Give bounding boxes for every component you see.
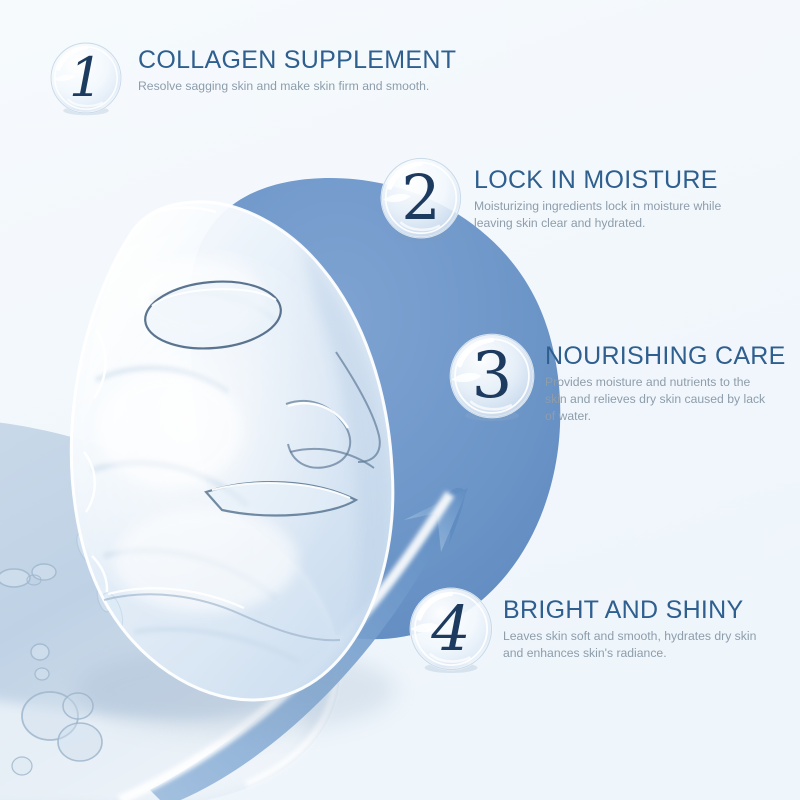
feature-desc-4-line-1: Leaves skin soft and smooth, hydrates dr…: [503, 628, 756, 645]
feature-desc-2-line-2: leaving skin clear and hydrated.: [474, 215, 721, 232]
feature-title-2: LOCK IN MOISTURE: [474, 167, 721, 193]
feature-desc-2-line-1: Moisturizing ingredients lock in moistur…: [474, 198, 721, 215]
feature-item-4: 4 BRIGHT AND SHINY Leaves skin soft and …: [407, 583, 756, 673]
feature-item-1: 1 COLLAGEN SUPPLEMENT Resolve sagging sk…: [48, 36, 456, 116]
bubble-4: 4: [407, 585, 495, 673]
feature-item-3: 3 NOURISHING CARE Provides moisture and …: [447, 331, 786, 425]
feature-desc-3-line-3: of water.: [545, 408, 786, 425]
feature-text-3: NOURISHING CARE Provides moisture and nu…: [545, 331, 786, 425]
feature-desc-2: Moisturizing ingredients lock in moistur…: [474, 198, 721, 232]
bubble-number-4: 4: [407, 585, 495, 673]
bubble-2: 2: [378, 155, 464, 241]
infographic-canvas: 1 COLLAGEN SUPPLEMENT Resolve sagging sk…: [0, 0, 800, 800]
feature-text-2: LOCK IN MOISTURE Moisturizing ingredient…: [474, 153, 721, 232]
feature-text-4: BRIGHT AND SHINY Leaves skin soft and sm…: [503, 583, 756, 662]
bubble-number-1: 1: [48, 40, 124, 116]
feature-title-4: BRIGHT AND SHINY: [503, 597, 756, 623]
feature-desc-4: Leaves skin soft and smooth, hydrates dr…: [503, 628, 756, 662]
feature-text-1: COLLAGEN SUPPLEMENT Resolve sagging skin…: [138, 36, 456, 95]
bubble-3: 3: [447, 331, 537, 421]
feature-desc-1: Resolve sagging skin and make skin firm …: [138, 78, 418, 95]
bubble-1: 1: [48, 40, 124, 116]
bubble-number-3: 3: [447, 331, 537, 421]
feature-title-3: NOURISHING CARE: [545, 343, 786, 369]
feature-item-2: 2 LOCK IN MOISTURE Moisturizing ingredie…: [378, 153, 721, 241]
feature-title-1: COLLAGEN SUPPLEMENT: [138, 47, 456, 73]
feature-desc-3-line-1: Provides moisture and nutrients to the: [545, 374, 786, 391]
feature-desc-3-line-2: skin and relieves dry skin caused by lac…: [545, 391, 786, 408]
bubble-number-2: 2: [378, 155, 464, 241]
feature-desc-4-line-2: and enhances skin's radiance.: [503, 645, 756, 662]
feature-desc-1-line-1: Resolve sagging skin and make skin firm …: [138, 78, 418, 95]
feature-desc-3: Provides moisture and nutrients to the s…: [545, 374, 786, 424]
